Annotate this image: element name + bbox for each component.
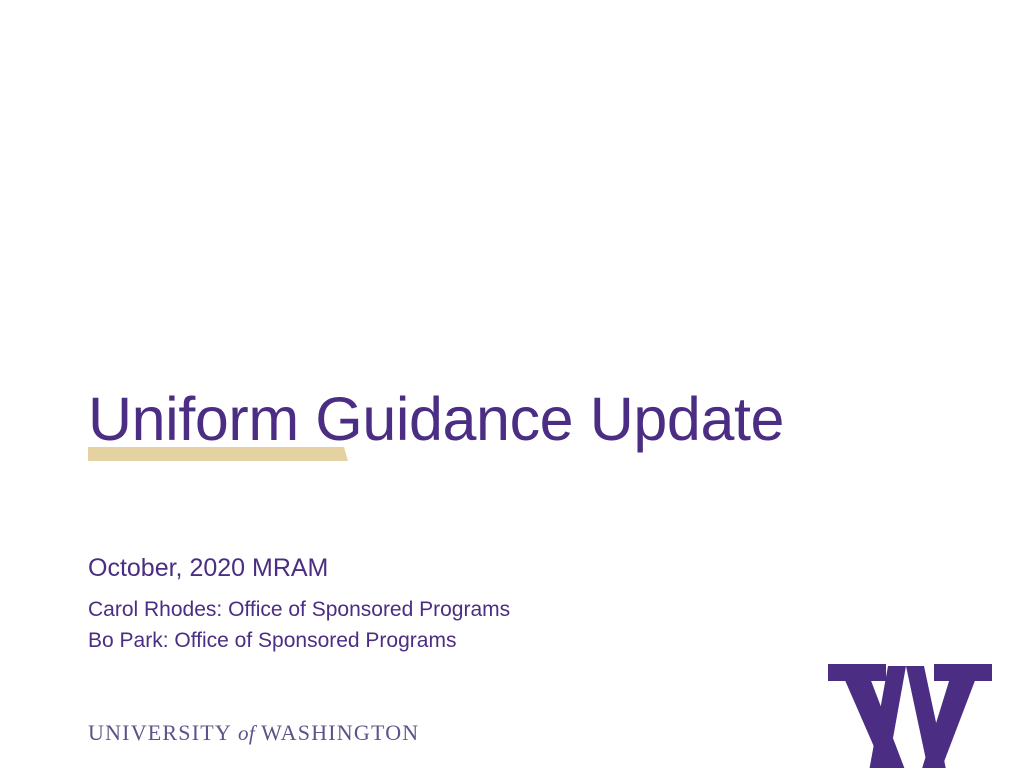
gold-accent-bar [88, 447, 348, 461]
subtitle-block: October, 2020 MRAM Carol Rhodes: Office … [88, 552, 788, 657]
wordmark-washington: WASHINGTON [261, 720, 419, 745]
wordmark-of: of [238, 721, 255, 745]
uw-w-logo-glyph [826, 660, 994, 768]
presenter-line-1: Carol Rhodes: Office of Sponsored Progra… [88, 594, 788, 626]
title-slide: Uniform Guidance Update October, 2020 MR… [0, 0, 1024, 768]
wordmark-university: UNIVERSITY [88, 720, 232, 745]
gold-accent-bar-shape [88, 447, 348, 461]
uw-w-logo [826, 660, 994, 768]
subtitle-date: October, 2020 MRAM [88, 552, 788, 585]
presenter-line-2: Bo Park: Office of Sponsored Programs [88, 625, 788, 657]
uw-wordmark: UNIVERSITYofWASHINGTON [88, 722, 419, 744]
page-title: Uniform Guidance Update [88, 387, 948, 451]
